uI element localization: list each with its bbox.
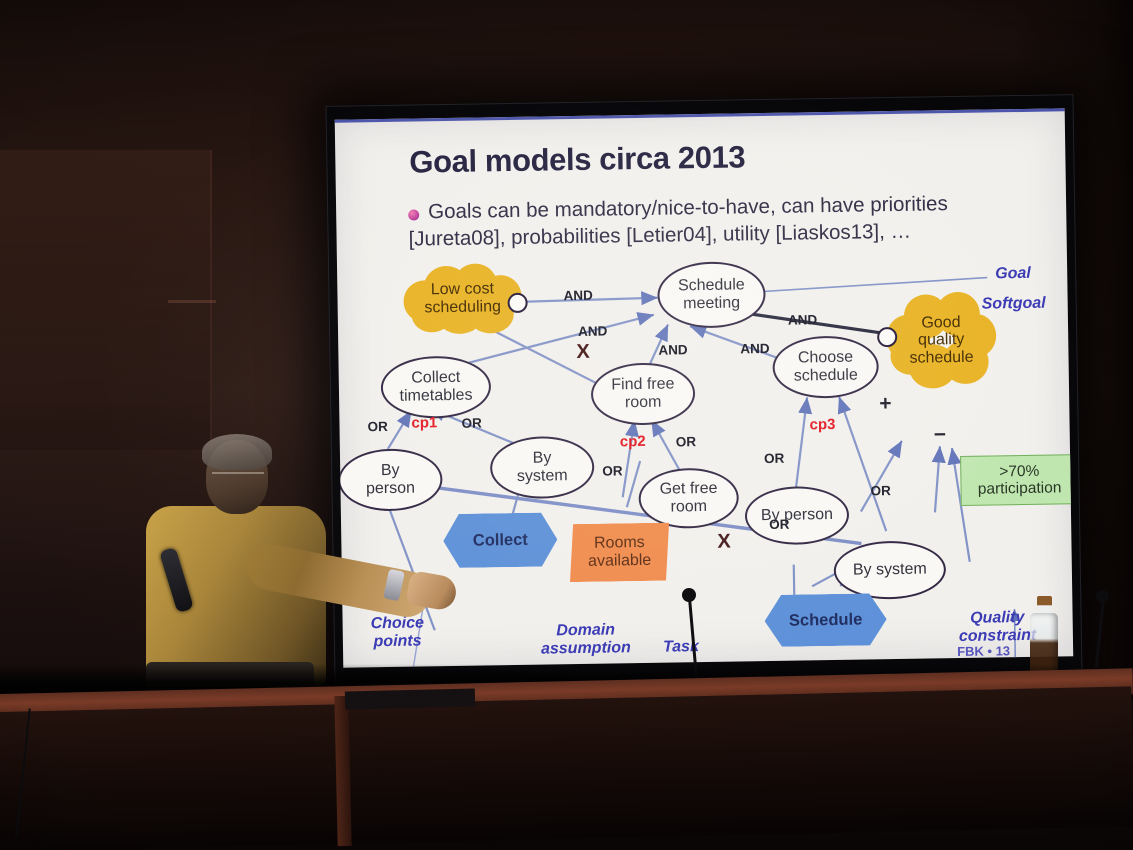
node-label: Collecttimetables bbox=[399, 369, 472, 405]
node-label: Get freeroom bbox=[660, 480, 718, 516]
contribution-plus: + bbox=[879, 393, 892, 414]
edge-label-and-4: AND bbox=[740, 341, 769, 356]
podium-desk bbox=[0, 682, 1133, 850]
edge-label-and-3: AND bbox=[658, 342, 687, 357]
node-label: Chooseschedule bbox=[793, 349, 858, 385]
desk-front-panel bbox=[0, 686, 1133, 850]
conference-photo: Goal models circa 2013 Goals can be mand… bbox=[0, 0, 1133, 850]
edge-label-and-1: AND bbox=[563, 288, 592, 303]
edge-label-or-6: OR bbox=[769, 517, 789, 532]
node-schedule-task[interactable]: Schedule bbox=[764, 593, 887, 647]
desk-equipment-block bbox=[345, 689, 475, 710]
edge-label-or-3: OR bbox=[676, 434, 696, 449]
edge-label-or-7: OR bbox=[870, 483, 890, 498]
node-label: Collect bbox=[473, 531, 528, 550]
cross-mark-2: X bbox=[717, 532, 731, 552]
node-label: Roomsavailable bbox=[588, 534, 652, 570]
node-rooms-available[interactable]: Roomsavailable bbox=[569, 523, 670, 583]
contribution-minus: − bbox=[934, 424, 947, 445]
node-participation-threshold[interactable]: >70%participation bbox=[960, 454, 1073, 506]
edge-label-or-2: OR bbox=[461, 415, 481, 430]
edge-label-and-5: AND bbox=[788, 312, 817, 327]
node-label: Find freeroom bbox=[611, 376, 675, 412]
legend-goal: Goal bbox=[995, 265, 1031, 284]
legend-quality-constraint: Qualityconstraint bbox=[958, 609, 1036, 647]
legend-domain-assumption: Domainassumption bbox=[541, 621, 631, 659]
edge-label-and-2: AND bbox=[578, 324, 607, 339]
node-label: Bysystem bbox=[517, 450, 568, 486]
node-label: Schedule bbox=[789, 610, 863, 629]
edge-label-or-4: OR bbox=[602, 463, 622, 478]
node-label: Goodqualityschedule bbox=[903, 313, 980, 367]
node-good-quality-schedule[interactable]: Goodqualityschedule bbox=[886, 291, 997, 389]
node-label: Schedulemeeting bbox=[678, 277, 745, 313]
presenter-glasses bbox=[212, 472, 264, 483]
choice-point-cp3: cp3 bbox=[809, 416, 835, 433]
wall-seam bbox=[168, 300, 216, 303]
presenter-hair bbox=[202, 434, 272, 470]
node-low-cost-scheduling[interactable]: Low costscheduling bbox=[401, 263, 524, 335]
node-label: >70%participation bbox=[977, 462, 1061, 497]
choice-point-cp1: cp1 bbox=[411, 414, 437, 431]
legend-softgoal: Softgoal bbox=[982, 295, 1046, 314]
node-label: By system bbox=[853, 561, 927, 580]
edge-label-or-5: OR bbox=[764, 451, 784, 466]
cross-mark-1: X bbox=[576, 342, 590, 362]
node-label: Low costscheduling bbox=[418, 280, 507, 317]
choice-point-cp2: cp2 bbox=[620, 433, 646, 450]
